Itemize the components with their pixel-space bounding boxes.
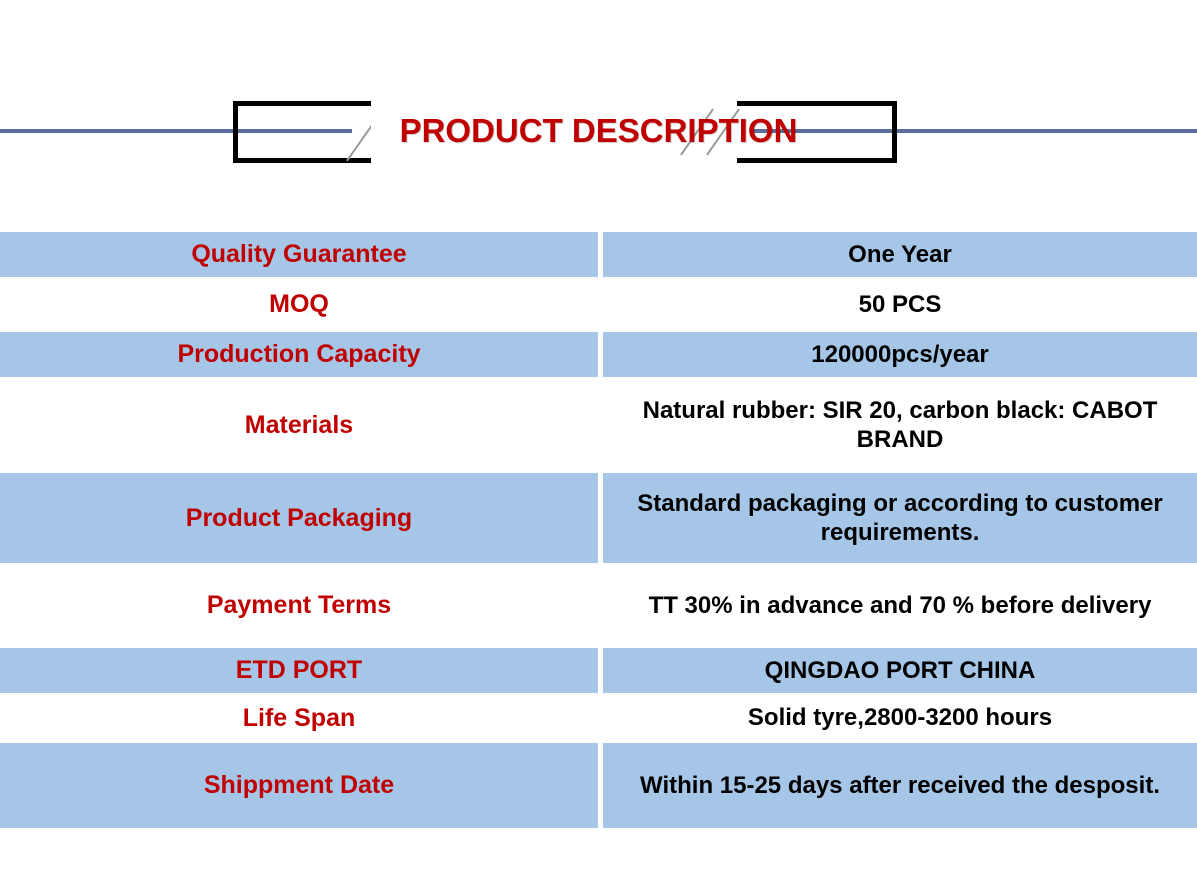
page-title: PRODUCT DESCRIPTION <box>0 112 1197 150</box>
table-row: Quality Guarantee One Year <box>0 232 1197 277</box>
spec-label: Product Packaging <box>0 473 598 563</box>
table-row: Product Packaging Standard packaging or … <box>0 473 1197 563</box>
spec-label: ETD PORT <box>0 648 598 693</box>
table-row: Life Span Solid tyre,2800-3200 hours <box>0 693 1197 743</box>
banner-header: PRODUCT DESCRIPTION <box>0 0 1197 215</box>
table-row: Production Capacity 120000pcs/year <box>0 332 1197 377</box>
spec-value: QINGDAO PORT CHINA <box>603 648 1197 693</box>
table-row: Payment Terms TT 30% in advance and 70 %… <box>0 563 1197 648</box>
spec-label: Life Span <box>0 693 598 743</box>
spec-label: Shippment Date <box>0 743 598 828</box>
spec-value: 50 PCS <box>603 277 1197 332</box>
spec-label: Quality Guarantee <box>0 232 598 277</box>
spec-value: Solid tyre,2800-3200 hours <box>603 693 1197 743</box>
spec-value: One Year <box>603 232 1197 277</box>
table-row: Shippment Date Within 15-25 days after r… <box>0 743 1197 828</box>
spec-value: Within 15-25 days after received the des… <box>603 743 1197 828</box>
spec-label: MOQ <box>0 277 598 332</box>
spec-value: Standard packaging or according to custo… <box>603 473 1197 563</box>
spec-label: Production Capacity <box>0 332 598 377</box>
spec-value: 120000pcs/year <box>603 332 1197 377</box>
spec-label: Materials <box>0 377 598 473</box>
product-description-table: Quality Guarantee One Year MOQ 50 PCS Pr… <box>0 232 1197 828</box>
table-row: MOQ 50 PCS <box>0 277 1197 332</box>
table-row: Materials Natural rubber: SIR 20, carbon… <box>0 377 1197 473</box>
spec-value: TT 30% in advance and 70 % before delive… <box>603 563 1197 648</box>
spec-label: Payment Terms <box>0 563 598 648</box>
spec-value: Natural rubber: SIR 20, carbon black: CA… <box>603 377 1197 473</box>
table-row: ETD PORT QINGDAO PORT CHINA <box>0 648 1197 693</box>
